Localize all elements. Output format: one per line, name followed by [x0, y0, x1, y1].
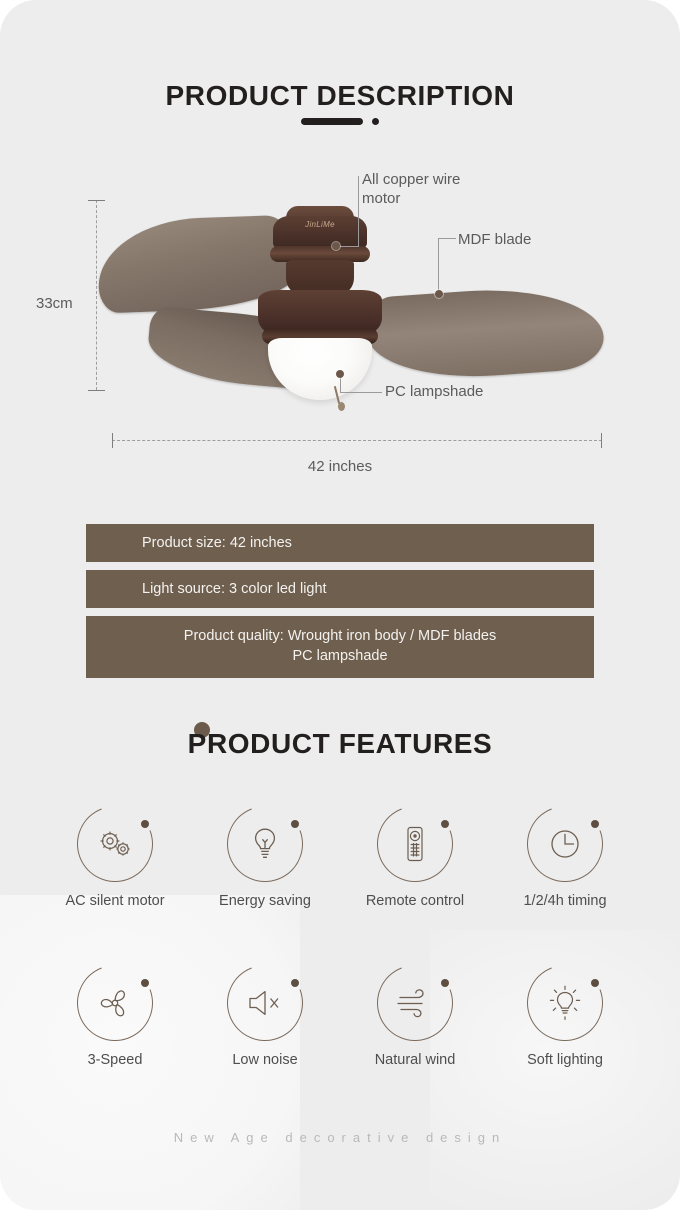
- callout-motor-dot: [332, 242, 340, 250]
- wind-icon: [377, 965, 453, 1041]
- width-dimension-line: [112, 440, 602, 441]
- glowing-bulb-icon: [527, 965, 603, 1041]
- feature-icon-wrap: [377, 965, 453, 1041]
- callout-lampshade-label: PC lampshade: [385, 382, 483, 401]
- fan-blade-right: [365, 282, 605, 384]
- product-description-page: PRODUCT DESCRIPTION JinLiMe All copper w…: [0, 0, 680, 1210]
- callout-motor-label: All copper wire motor: [362, 170, 460, 208]
- feature-ac-silent-motor: AC silent motor: [40, 806, 190, 909]
- remote-control-icon: [377, 806, 453, 882]
- feature-label: Low noise: [232, 1052, 297, 1068]
- spec-bar-product-quality: Product quality: Wrought iron body / MDF…: [86, 616, 594, 678]
- feature-icon-wrap: [527, 965, 603, 1041]
- callout-motor-leader-vertical: [358, 176, 359, 246]
- title-decoration-bar: [301, 118, 363, 125]
- fan-blades-icon: [77, 965, 153, 1041]
- feature-label: AC silent motor: [65, 893, 164, 909]
- motor-neck: [286, 260, 354, 294]
- clock-icon: [527, 806, 603, 882]
- feature-icon-wrap: [527, 806, 603, 882]
- feature-icon-wrap: [377, 806, 453, 882]
- height-dimension-cap-bottom: [88, 390, 105, 391]
- callout-blade-leader-vertical: [438, 238, 439, 294]
- feature-icon-wrap: [227, 806, 303, 882]
- feature-label: Soft lighting: [527, 1052, 603, 1068]
- height-dimension-line: [96, 200, 97, 390]
- spec-quality-line2: PC lampshade: [104, 646, 576, 666]
- pc-lampshade-dome: [268, 338, 372, 400]
- feature-remote-control: Remote control: [340, 806, 490, 909]
- brand-mark: JinLiMe: [290, 220, 350, 229]
- feature-timing: 1/2/4h timing: [490, 806, 640, 909]
- speaker-mute-icon: [227, 965, 303, 1041]
- feature-label: Natural wind: [375, 1052, 456, 1068]
- height-dimension-cap-top: [88, 200, 105, 201]
- spec-bar-list: Product size: 42 inches Light source: 3 …: [86, 524, 594, 686]
- height-dimension-label: 33cm: [36, 295, 73, 312]
- feature-soft-lighting: Soft lighting: [490, 965, 640, 1068]
- width-dimension-label: 42 inches: [0, 458, 680, 475]
- spec-bar-light-source: Light source: 3 color led light: [86, 570, 594, 608]
- feature-grid: AC silent motor Energy saving: [40, 806, 640, 1068]
- product-features-title: PRODUCT FEATURES: [0, 728, 680, 760]
- callout-lampshade-dot: [336, 370, 344, 378]
- callout-blade-dot: [435, 290, 443, 298]
- callout-blade-leader-horizontal: [438, 238, 456, 239]
- callout-blade-label: MDF blade: [458, 230, 531, 249]
- feature-energy-saving: Energy saving: [190, 806, 340, 909]
- product-description-title: PRODUCT DESCRIPTION: [0, 80, 680, 112]
- feature-icon-wrap: [227, 965, 303, 1041]
- feature-low-noise: Low noise: [190, 965, 340, 1068]
- feature-label: Energy saving: [219, 893, 311, 909]
- callout-motor-leader-horizontal: [340, 246, 359, 247]
- title-decoration-dot: [372, 118, 379, 125]
- spec-bar-product-size: Product size: 42 inches: [86, 524, 594, 562]
- feature-icon-wrap: [77, 806, 153, 882]
- gears-icon: [77, 806, 153, 882]
- feature-label: 3-Speed: [88, 1052, 143, 1068]
- callout-lampshade-leader-horizontal: [340, 392, 382, 393]
- feature-label: 1/2/4h timing: [523, 893, 606, 909]
- feature-icon-wrap: [77, 965, 153, 1041]
- footer-tagline: New Age decorative design: [0, 1130, 680, 1145]
- spec-quality-line1: Product quality: Wrought iron body / MDF…: [184, 628, 496, 644]
- lightbulb-icon: [227, 806, 303, 882]
- callout-lampshade-leader-vertical: [340, 376, 341, 393]
- width-dimension-cap-left: [112, 433, 113, 448]
- feature-natural-wind: Natural wind: [340, 965, 490, 1068]
- feature-label: Remote control: [366, 893, 464, 909]
- pull-chain-knob: [338, 402, 345, 411]
- feature-3-speed: 3-Speed: [40, 965, 190, 1068]
- title-decoration: [0, 118, 680, 125]
- width-dimension-cap-right: [601, 433, 602, 448]
